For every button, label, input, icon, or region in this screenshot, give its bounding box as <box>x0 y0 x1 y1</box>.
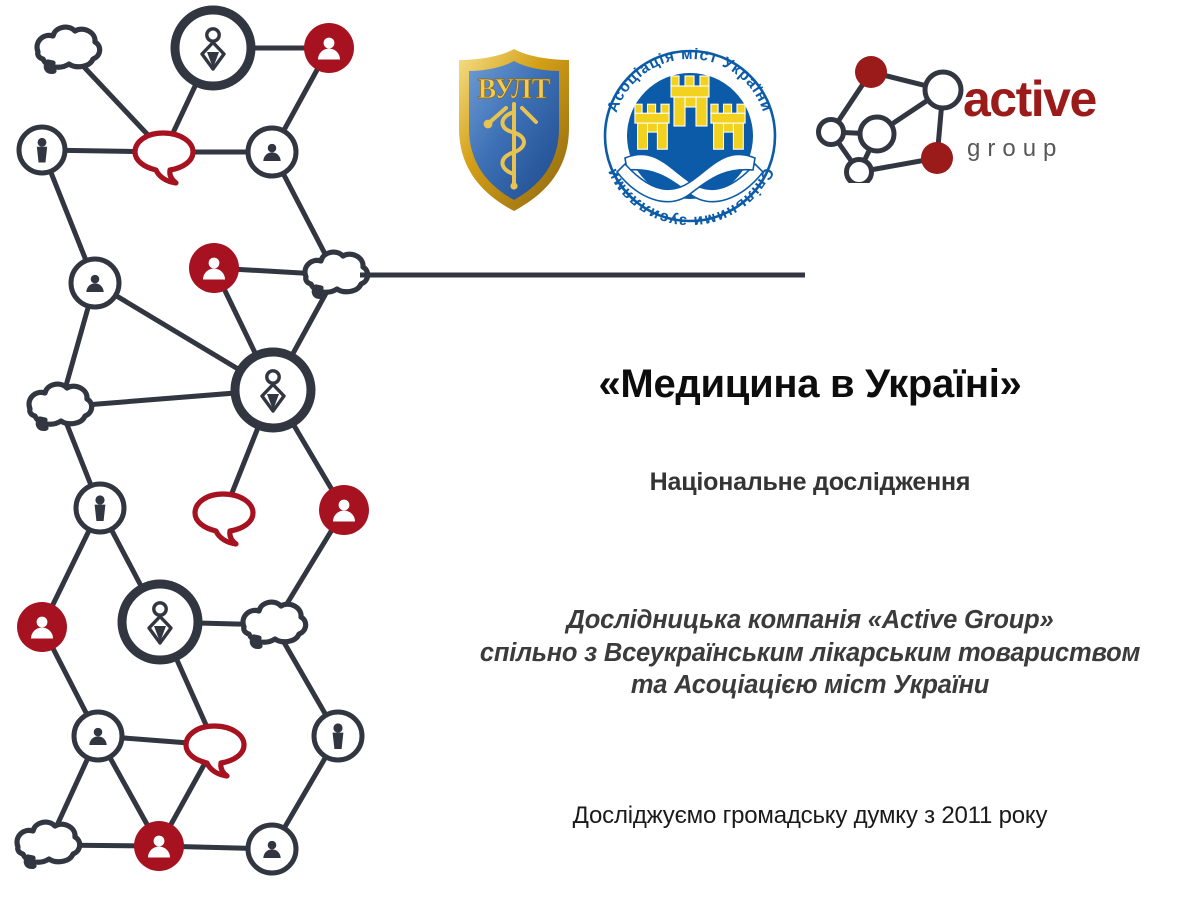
page-title: «Медицина в Україні» <box>420 350 1200 406</box>
network-node-bubble <box>135 133 193 183</box>
network-node-person-small <box>76 484 124 532</box>
presentation-slide: ВУЛТ <box>0 0 1200 900</box>
org-line-2: спільно з Всеукраїнським лікарським това… <box>420 637 1200 670</box>
org-line-1: Дослідницька компанія «Active Group» <box>420 604 1200 637</box>
network-node-cloud <box>37 27 100 71</box>
network-node-avatar-fill <box>304 23 354 73</box>
network-node-person-ring <box>122 584 198 660</box>
network-node-bubble <box>195 494 253 544</box>
network-node-person-small <box>314 712 362 760</box>
association-of-ukrainian-cities-logo: Асоціація міст України Спільними зусилля… <box>595 36 785 228</box>
organisations-block: Дослідницька компанія «Active Group» спі… <box>420 497 1200 702</box>
network-node-avatar-ring <box>248 128 296 176</box>
network-node-cloud <box>17 822 80 866</box>
network-node-avatar-fill <box>189 243 239 293</box>
network-node-avatar-ring <box>248 825 296 873</box>
network-node-avatar-fill <box>17 602 67 652</box>
network-node-avatar-ring <box>74 712 122 760</box>
tagline: Досліджуємо громадську думку з 2011 року <box>420 702 1200 830</box>
active-wordmark: active <box>963 71 1096 127</box>
active-group-logo: active group <box>815 48 1125 183</box>
partner-logo-strip: ВУЛТ <box>430 28 1130 218</box>
network-node-person-small <box>19 127 65 173</box>
org-line-3: та Асоціацією міст України <box>420 669 1200 702</box>
network-node-avatar-fill <box>134 821 184 871</box>
network-node-avatar-ring <box>71 259 119 307</box>
network-node-avatar-fill <box>319 485 369 535</box>
network-node-person-ring <box>175 10 251 86</box>
network-node-cloud <box>243 602 306 646</box>
network-node-person-ring <box>235 352 311 428</box>
group-wordmark: group <box>967 135 1063 162</box>
network-node-cloud <box>29 384 92 428</box>
subtitle: Національне дослідження <box>420 406 1200 497</box>
network-node-bubble <box>186 726 244 776</box>
slide-text-column: «Медицина в Україні» Національне дослідж… <box>420 350 1200 830</box>
vut-monogram: ВУЛТ <box>478 74 551 105</box>
vut-shield-logo: ВУЛТ <box>450 46 578 214</box>
network-nodes <box>17 10 369 873</box>
network-node-cloud <box>305 252 368 296</box>
